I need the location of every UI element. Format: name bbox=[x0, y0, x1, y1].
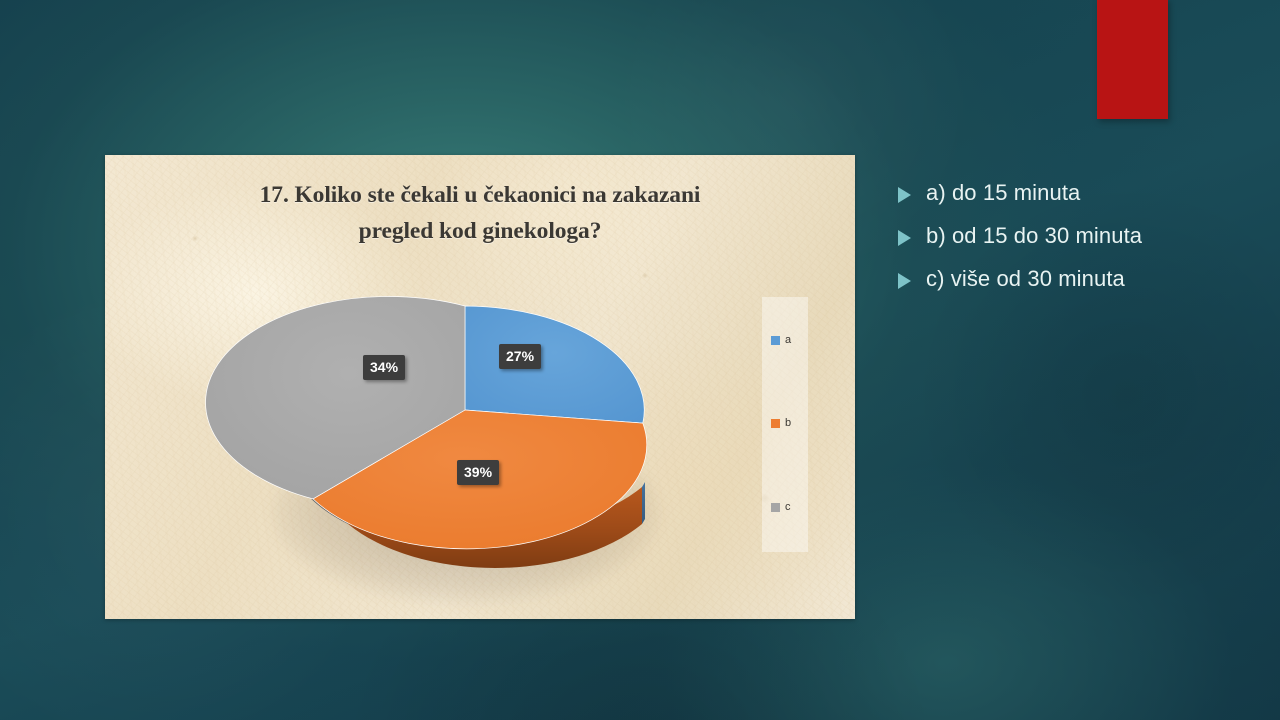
triangle-bullet-icon bbox=[898, 273, 911, 289]
legend-item-c[interactable]: c bbox=[771, 502, 791, 513]
list-item-label: b) od 15 do 30 minuta bbox=[926, 221, 1142, 251]
legend-label-c: c bbox=[785, 502, 791, 513]
legend-swatch-b bbox=[771, 419, 780, 428]
list-item[interactable]: b) od 15 do 30 minuta bbox=[898, 221, 1258, 251]
legend-item-a[interactable]: a bbox=[771, 335, 791, 346]
legend-label-a: a bbox=[785, 335, 791, 346]
pie-chart-image[interactable]: 17. Koliko ste čekali u čekaonici na zak… bbox=[105, 155, 855, 619]
pie-data-label-a: 27% bbox=[499, 344, 541, 369]
red-accent-bar bbox=[1097, 0, 1168, 119]
triangle-bullet-icon bbox=[898, 187, 911, 203]
pie-graphic: 27% 39% 34% bbox=[105, 155, 855, 619]
legend-item-b[interactable]: b bbox=[771, 418, 791, 429]
pie-data-label-c: 34% bbox=[363, 355, 405, 380]
pie-data-label-b: 39% bbox=[457, 460, 499, 485]
presentation-slide: 17. Koliko ste čekali u čekaonici na zak… bbox=[0, 0, 1280, 720]
answer-options-list: a) do 15 minuta b) od 15 do 30 minuta c)… bbox=[898, 178, 1258, 307]
legend-label-b: b bbox=[785, 418, 791, 429]
list-item-label: c) više od 30 minuta bbox=[926, 264, 1125, 294]
pie-side-wall-a bbox=[642, 482, 645, 524]
chart-legend: a b c bbox=[762, 297, 808, 552]
list-item[interactable]: a) do 15 minuta bbox=[898, 178, 1258, 208]
list-item[interactable]: c) više od 30 minuta bbox=[898, 264, 1258, 294]
pie-chart-svg bbox=[105, 155, 855, 619]
legend-swatch-c bbox=[771, 503, 780, 512]
legend-swatch-a bbox=[771, 336, 780, 345]
list-item-label: a) do 15 minuta bbox=[926, 178, 1080, 208]
triangle-bullet-icon bbox=[898, 230, 911, 246]
pie-slice-a bbox=[465, 306, 644, 423]
